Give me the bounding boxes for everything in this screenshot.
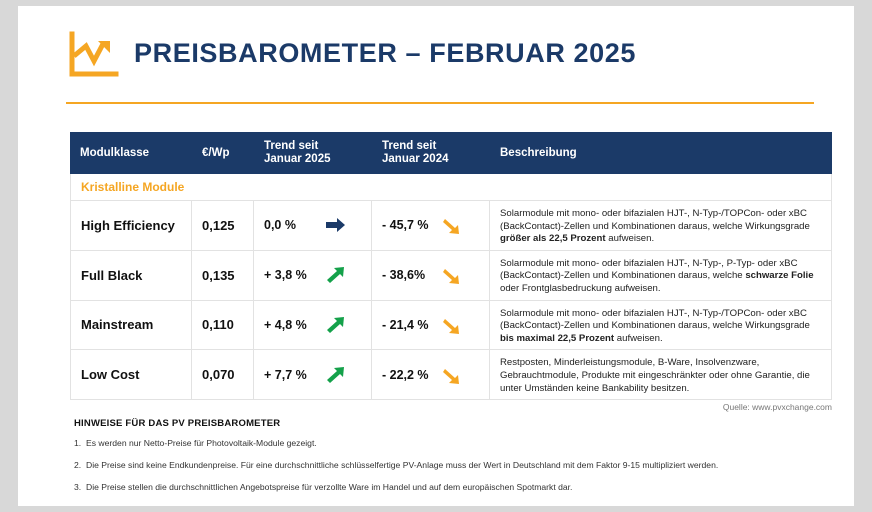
column-header-modulklasse: Modulklasse	[70, 147, 192, 160]
arrow-up-right-icon	[324, 315, 346, 335]
cell-trend-2024: - 45,7 %	[372, 201, 490, 250]
table-group-row: Kristalline Module	[70, 174, 832, 200]
line-chart-arrow-icon	[66, 30, 122, 80]
source-note: Quelle: www.pvxchange.com	[723, 402, 832, 412]
cell-description: Solarmodule mit mono- oder bifazialen HJ…	[490, 301, 832, 350]
column-header-trend-2024: Trend seit Januar 2024	[372, 140, 490, 166]
table-row: Full Black0,135+ 3,8 %- 38,6%Solarmodule…	[70, 251, 832, 301]
cell-price-eur-per-wp: 0,125	[192, 201, 254, 250]
note-number-1: 1.	[74, 438, 86, 448]
trend-2025-value: + 3,8 %	[264, 268, 316, 282]
note-number-2: 2.	[74, 460, 86, 470]
column-header-trend-2024-line2: Januar 2024	[382, 153, 490, 166]
cell-trend-2025: + 7,7 %	[254, 350, 372, 399]
cell-price-eur-per-wp: 0,135	[192, 251, 254, 300]
column-header-trend-2024-line1: Trend seit	[382, 140, 490, 153]
preisbarometer-page: PREISBAROMETER – FEBRUAR 2025 Modulklass…	[18, 6, 854, 506]
cell-price-eur-per-wp: 0,110	[192, 301, 254, 350]
cell-modulklasse: High Efficiency	[70, 201, 192, 250]
arrow-up-right-icon	[324, 265, 346, 285]
table-body: High Efficiency0,1250,0 %- 45,7 %Solarmo…	[70, 200, 832, 400]
note-text-1: Es werden nur Netto-Preise für Photovolt…	[86, 438, 317, 448]
notes-title: HINWEISE FÜR DAS PV PREISBAROMETER	[74, 418, 280, 429]
arrow-down-right-icon	[442, 215, 464, 235]
cell-modulklasse: Mainstream	[70, 301, 192, 350]
trend-2025-value: + 4,8 %	[264, 318, 316, 332]
trend-2024-value: - 22,2 %	[382, 368, 434, 382]
note-item-3: 3.Die Preise stellen die durchschnittlic…	[74, 482, 572, 492]
trend-2024-value: - 45,7 %	[382, 218, 434, 232]
arrow-down-right-icon	[442, 315, 464, 335]
column-header-description: Beschreibung	[490, 147, 832, 160]
cell-modulklasse: Low Cost	[70, 350, 192, 399]
arrow-down-right-icon	[442, 365, 464, 385]
note-text-3: Die Preise stellen die durchschnittliche…	[86, 482, 572, 492]
note-text-2: Die Preise sind keine Endkundenpreise. F…	[86, 460, 718, 470]
note-number-3: 3.	[74, 482, 86, 492]
arrow-right-icon	[324, 215, 346, 235]
cell-description: Solarmodule mit mono- oder bifazialen HJ…	[490, 251, 832, 300]
description-emphasis: größer als 22,5 Prozent	[500, 233, 606, 244]
page-title: PREISBAROMETER – FEBRUAR 2025	[134, 38, 636, 69]
price-table: Modulklasse €/Wp Trend seit Januar 2025 …	[70, 132, 832, 400]
description-emphasis: bis maximal 22,5 Prozent	[500, 333, 614, 344]
cell-description: Solarmodule mit mono- oder bifazialen HJ…	[490, 201, 832, 250]
group-label-kristalline-module: Kristalline Module	[71, 180, 184, 194]
trend-2024-value: - 21,4 %	[382, 318, 434, 332]
cell-trend-2024: - 21,4 %	[372, 301, 490, 350]
header-divider	[66, 102, 814, 104]
cell-modulklasse: Full Black	[70, 251, 192, 300]
description-emphasis: schwarze Folie	[745, 270, 813, 281]
cell-trend-2025: + 3,8 %	[254, 251, 372, 300]
cell-trend-2025: 0,0 %	[254, 201, 372, 250]
cell-trend-2024: - 38,6%	[372, 251, 490, 300]
column-header-trend-2025-line1: Trend seit	[264, 140, 372, 153]
cell-price-eur-per-wp: 0,070	[192, 350, 254, 399]
column-header-trend-2025: Trend seit Januar 2025	[254, 140, 372, 166]
trend-2025-value: 0,0 %	[264, 218, 316, 232]
column-header-trend-2025-line2: Januar 2025	[264, 153, 372, 166]
cell-trend-2025: + 4,8 %	[254, 301, 372, 350]
note-item-1: 1.Es werden nur Netto-Preise für Photovo…	[74, 438, 317, 448]
table-row: Low Cost0,070+ 7,7 %- 22,2 %Restposten, …	[70, 350, 832, 400]
cell-description: Restposten, Minderleistungsmodule, B-War…	[490, 350, 832, 399]
trend-2025-value: + 7,7 %	[264, 368, 316, 382]
arrow-down-right-icon	[442, 265, 464, 285]
trend-2024-value: - 38,6%	[382, 268, 434, 282]
cell-trend-2024: - 22,2 %	[372, 350, 490, 399]
table-row: High Efficiency0,1250,0 %- 45,7 %Solarmo…	[70, 200, 832, 251]
arrow-up-right-icon	[324, 365, 346, 385]
table-row: Mainstream0,110+ 4,8 %- 21,4 %Solarmodul…	[70, 301, 832, 351]
column-header-price: €/Wp	[192, 147, 254, 160]
table-header-row: Modulklasse €/Wp Trend seit Januar 2025 …	[70, 132, 832, 174]
page-header: PREISBAROMETER – FEBRUAR 2025	[66, 24, 814, 102]
note-item-2: 2.Die Preise sind keine Endkundenpreise.…	[74, 460, 718, 470]
